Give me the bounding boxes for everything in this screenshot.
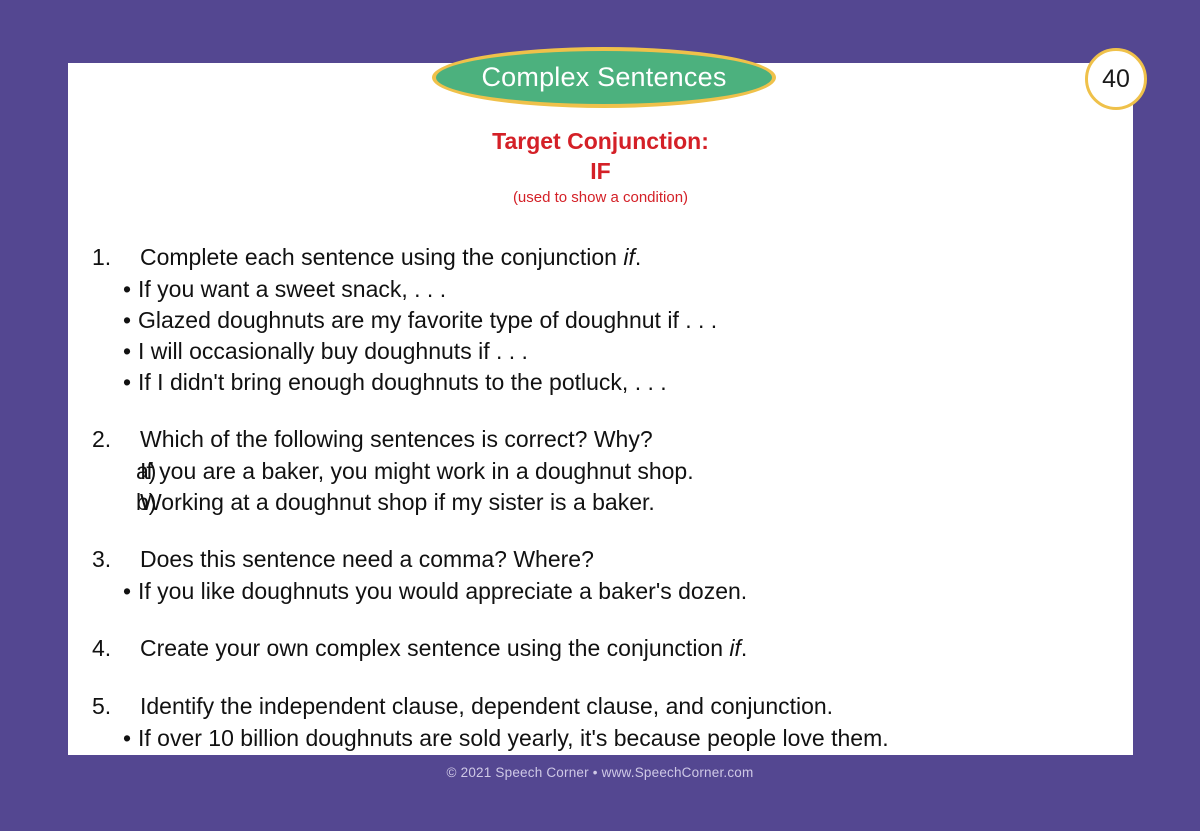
question-item: 5.Identify the independent clause, depen…	[92, 689, 1112, 723]
page-number: 40	[1102, 65, 1130, 94]
question-options: a)If you are a baker, you might work in …	[92, 456, 1112, 518]
bullet-item: •If I didn't bring enough doughnuts to t…	[92, 367, 1112, 398]
question-item: 4.Create your own complex sentence using…	[92, 631, 1112, 665]
question-text: Complete each sentence using the conjunc…	[140, 240, 641, 274]
bullet-text: If you like doughnuts you would apprecia…	[138, 576, 747, 607]
question-bullets: •If you like doughnuts you would appreci…	[92, 576, 1112, 607]
bullet-item: •Glazed doughnuts are my favorite type o…	[92, 305, 1112, 336]
question-item: 1.Complete each sentence using the conju…	[92, 240, 1112, 274]
spacer	[92, 665, 1112, 689]
question-number: 5.	[92, 689, 140, 723]
option-text: Working at a doughnut shop if my sister …	[140, 487, 655, 518]
option-item: b)Working at a doughnut shop if my siste…	[92, 487, 1112, 518]
bullet-item: •I will occasionally buy doughnuts if . …	[92, 336, 1112, 367]
page-title: Complex Sentences	[481, 62, 726, 93]
target-conjunction-label: Target Conjunction:	[68, 126, 1133, 156]
question-number: 3.	[92, 542, 140, 576]
bullet-text: I will occasionally buy doughnuts if . .…	[138, 336, 528, 367]
question-item: 2.Which of the following sentences is co…	[92, 422, 1112, 456]
question-text: Create your own complex sentence using t…	[140, 631, 747, 665]
conjunction-emphasis: if	[729, 635, 741, 661]
bullet-dot-icon: •	[92, 576, 138, 607]
bullet-dot-icon: •	[92, 723, 138, 754]
question-number: 1.	[92, 240, 140, 274]
spacer	[92, 398, 1112, 422]
question-number: 2.	[92, 422, 140, 456]
question-number: 4.	[92, 631, 140, 665]
option-text: If you are a baker, you might work in a …	[140, 456, 694, 487]
bullet-dot-icon: •	[92, 336, 138, 367]
conjunction-emphasis: if	[623, 244, 635, 270]
bullet-text: If over 10 billion doughnuts are sold ye…	[138, 723, 889, 754]
question-bullets: •If you want a sweet snack, . . .•Glazed…	[92, 274, 1112, 398]
target-conjunction-word: IF	[68, 156, 1133, 186]
bullet-text: Glazed doughnuts are my favorite type of…	[138, 305, 717, 336]
bullet-item: •If you like doughnuts you would appreci…	[92, 576, 1112, 607]
question-text: Identify the independent clause, depende…	[140, 689, 833, 723]
question-bullets: •If over 10 billion doughnuts are sold y…	[92, 723, 1112, 754]
footer-copyright: © 2021 Speech Corner • www.SpeechCorner.…	[0, 765, 1200, 780]
worksheet-card: Target Conjunction: IF (used to show a c…	[68, 63, 1133, 755]
target-conjunction-block: Target Conjunction: IF (used to show a c…	[68, 126, 1133, 210]
question-text: Which of the following sentences is corr…	[140, 422, 653, 456]
option-label: a)	[92, 456, 140, 487]
bullet-text: If I didn't bring enough doughnuts to th…	[138, 367, 667, 398]
bullet-dot-icon: •	[92, 305, 138, 336]
questions-list: 1.Complete each sentence using the conju…	[92, 240, 1112, 754]
question-text: Does this sentence need a comma? Where?	[140, 542, 594, 576]
bullet-item: •If you want a sweet snack, . . .	[92, 274, 1112, 305]
bullet-dot-icon: •	[92, 367, 138, 398]
title-oval: Complex Sentences	[432, 47, 776, 108]
option-item: a)If you are a baker, you might work in …	[92, 456, 1112, 487]
bullet-dot-icon: •	[92, 274, 138, 305]
option-label: b)	[92, 487, 140, 518]
question-item: 3.Does this sentence need a comma? Where…	[92, 542, 1112, 576]
bullet-text: If you want a sweet snack, . . .	[138, 274, 446, 305]
spacer	[92, 518, 1112, 542]
spacer	[92, 607, 1112, 631]
page-number-badge: 40	[1085, 48, 1147, 110]
bullet-item: •If over 10 billion doughnuts are sold y…	[92, 723, 1112, 754]
target-conjunction-note: (used to show a condition)	[68, 186, 1133, 210]
